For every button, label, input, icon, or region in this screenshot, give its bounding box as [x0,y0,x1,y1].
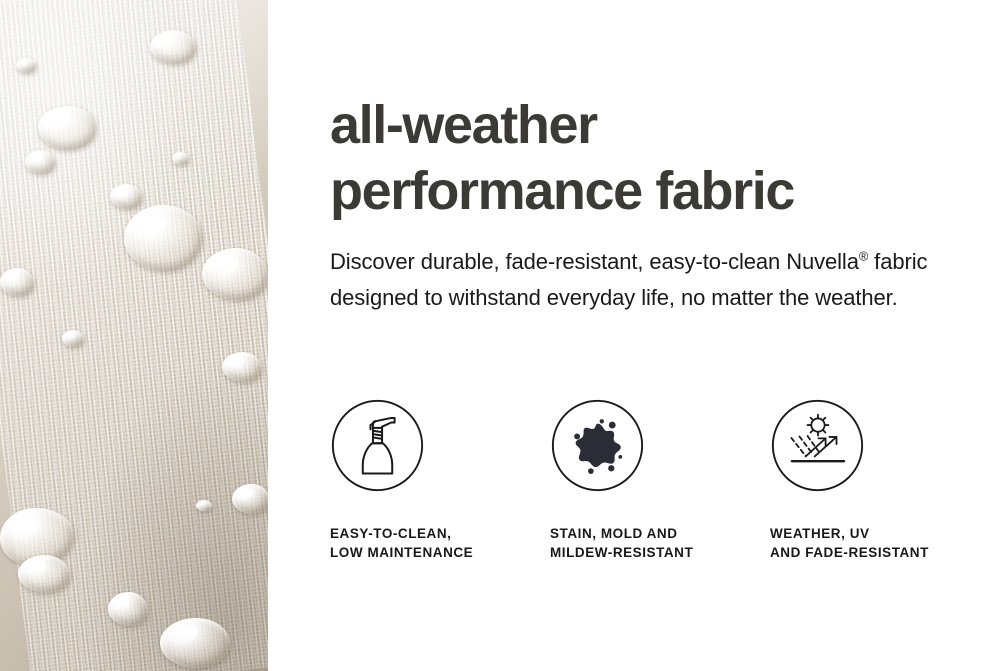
sun-reflect-icon [770,398,865,493]
spray-bottle-icon [330,398,425,493]
water-droplet [38,106,96,150]
stain-splat-icon [550,398,645,493]
water-droplet [110,184,142,209]
registered-trademark-mark: ® [859,249,868,264]
water-droplet [150,30,196,64]
feature-label: WEATHER, UV AND FADE-RESISTANT [770,524,990,562]
subcopy-text-before-mark: Discover durable, fade-resistant, easy-t… [330,249,859,274]
content-column: all-weather performance fabric Discover … [330,0,1005,671]
water-droplet [0,268,34,296]
water-droplet [124,205,202,271]
water-droplet [222,352,262,382]
fabric-photo [0,0,268,671]
feature-list: EASY-TO-CLEAN, LOW MAINTENANCE STAIN, MO… [330,398,990,562]
water-droplet [16,58,36,73]
water-droplet [108,592,148,626]
water-droplet [25,150,55,174]
feature-label: EASY-TO-CLEAN, LOW MAINTENANCE [330,524,550,562]
water-droplet [18,555,70,593]
feature-item-easy-to-clean: EASY-TO-CLEAN, LOW MAINTENANCE [330,398,550,562]
feature-label: STAIN, MOLD AND MILDEW-RESISTANT [550,524,770,562]
water-droplet [160,618,230,668]
water-droplet [62,330,84,347]
water-droplet [196,500,212,511]
promo-page: all-weather performance fabric Discover … [0,0,1005,671]
water-droplet [172,152,189,165]
feature-item-stain-resistant: STAIN, MOLD AND MILDEW-RESISTANT [550,398,770,562]
water-droplet [202,248,268,300]
page-title: all-weather performance fabric [330,92,990,224]
subcopy-paragraph: Discover durable, fade-resistant, easy-t… [330,244,940,316]
water-droplet [232,484,268,514]
feature-item-weather-uv-resistant: WEATHER, UV AND FADE-RESISTANT [770,398,990,562]
